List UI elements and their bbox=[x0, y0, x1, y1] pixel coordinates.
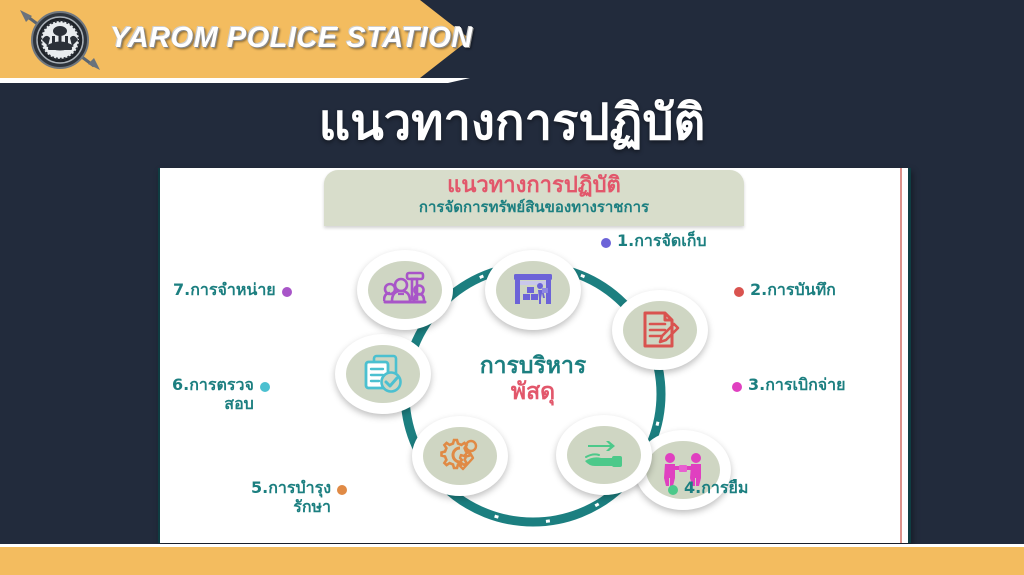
label-node-5[interactable]: 5.การบำรุง รักษา bbox=[251, 479, 347, 517]
label-node-1[interactable]: 1.การจัดเก็บ bbox=[601, 232, 707, 251]
label-node-6-line2: สอบ bbox=[172, 395, 254, 414]
label-node-4-text: 4.การยืม bbox=[684, 479, 748, 498]
node-6-inner bbox=[346, 345, 420, 403]
police-emblem-icon bbox=[16, 6, 104, 74]
node-4-inner bbox=[567, 426, 641, 484]
bottom-bar bbox=[0, 547, 1024, 575]
label-node-5-line1: 5.การบำรุง bbox=[251, 478, 331, 497]
bullet-node-3 bbox=[732, 382, 742, 392]
bullet-node-2 bbox=[734, 287, 744, 297]
label-node-7-text: 7.การจำหน่าย bbox=[173, 281, 276, 300]
diagram-center-text: การบริหาร พัสดุ bbox=[428, 353, 638, 406]
node-1-storage[interactable] bbox=[485, 250, 581, 330]
station-name-title: YAROM POLICE STATION bbox=[110, 22, 473, 55]
label-node-2[interactable]: 2.การบันทึก bbox=[734, 281, 836, 300]
node-2-inner bbox=[623, 301, 697, 359]
label-node-4[interactable]: 4.การยืม bbox=[668, 479, 748, 498]
page-title: แนวทางการปฏิบัติ bbox=[0, 96, 1024, 150]
label-node-3[interactable]: 3.การเบิกจ่าย bbox=[732, 376, 846, 395]
label-node-6-line1: 6.การตรวจ bbox=[172, 375, 254, 394]
bullet-node-5 bbox=[337, 485, 347, 495]
bullet-node-6 bbox=[260, 382, 270, 392]
slide-canvas: YAROM POLICE STATION แนวทางการปฏิบัติ แน… bbox=[0, 0, 1024, 575]
hand-lend-icon bbox=[582, 439, 626, 471]
label-node-6-text: 6.การตรวจ สอบ bbox=[172, 376, 254, 414]
center-line-1: การบริหาร bbox=[428, 353, 638, 379]
label-node-3-text: 3.การเบิกจ่าย bbox=[748, 376, 846, 395]
node-4-borrow[interactable] bbox=[556, 415, 652, 495]
label-node-1-text: 1.การจัดเก็บ bbox=[617, 232, 707, 251]
label-node-7[interactable]: 7.การจำหน่าย bbox=[173, 281, 292, 300]
node-7-dispose[interactable] bbox=[357, 250, 453, 330]
document-pen-icon bbox=[640, 310, 680, 350]
gear-wrench-icon bbox=[438, 437, 482, 475]
node-7-inner bbox=[368, 261, 442, 319]
node-1-inner bbox=[496, 261, 570, 319]
bullet-node-1 bbox=[601, 238, 611, 248]
warehouse-storage-icon bbox=[511, 272, 555, 308]
node-5-inner bbox=[423, 427, 497, 485]
header-banner-underline bbox=[0, 78, 470, 83]
node-5-maintenance[interactable] bbox=[412, 416, 508, 496]
auction-gavel-icon bbox=[383, 271, 427, 309]
label-node-5-text: 5.การบำรุง รักษา bbox=[251, 479, 331, 517]
label-node-2-text: 2.การบันทึก bbox=[750, 281, 836, 300]
bullet-node-7 bbox=[282, 287, 292, 297]
document-check-icon bbox=[362, 354, 404, 394]
center-line-2: พัสดุ bbox=[428, 379, 638, 405]
label-node-6[interactable]: 6.การตรวจ สอบ bbox=[172, 376, 270, 414]
label-node-5-line2: รักษา bbox=[251, 498, 331, 517]
bullet-node-4 bbox=[668, 485, 678, 495]
diagram-panel: แนวทางการปฏิบัติ การจัดการทรัพย์สินของทา… bbox=[158, 168, 911, 543]
node-6-audit[interactable] bbox=[335, 334, 431, 414]
